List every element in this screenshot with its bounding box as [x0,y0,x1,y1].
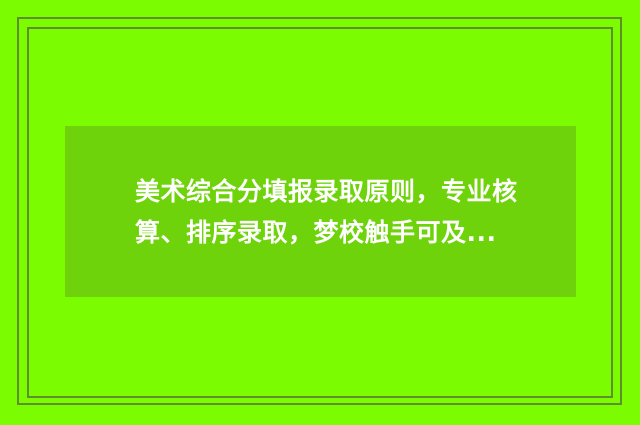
headline-card: 美术综合分填报录取原则，专业核 算、排序录取，梦校触手可及... [65,126,576,297]
cover-canvas: 美术综合分填报录取原则，专业核 算、排序录取，梦校触手可及... [0,0,640,425]
headline-text: 美术综合分填报录取原则，专业核 算、排序录取，梦校触手可及... [135,171,535,253]
